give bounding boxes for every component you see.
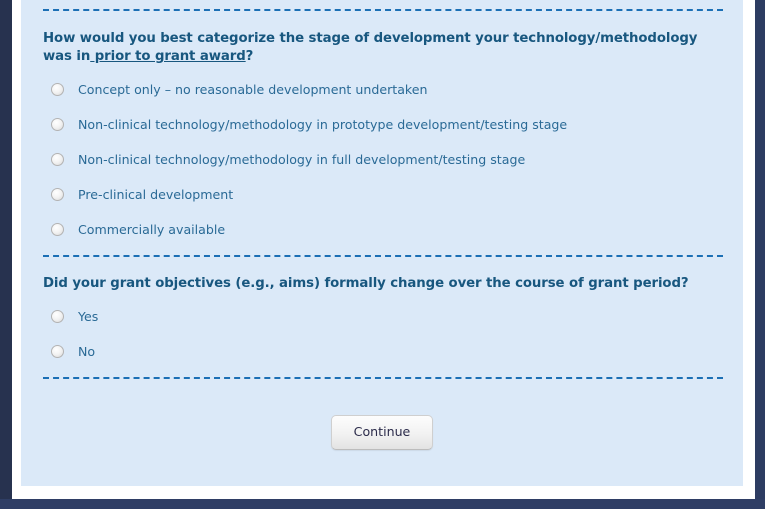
option-row[interactable]: Yes <box>43 299 727 334</box>
radio-objectives-no[interactable] <box>51 345 64 358</box>
option-row[interactable]: Non-clinical technology/methodology in f… <box>43 142 727 177</box>
question-block-stage-of-development: How would you best categorize the stage … <box>43 30 727 247</box>
continue-button[interactable]: Continue <box>331 415 434 450</box>
radio-full-development-stage[interactable] <box>51 153 64 166</box>
option-label[interactable]: Non-clinical technology/methodology in p… <box>78 117 567 133</box>
option-row[interactable]: Concept only – no reasonable development… <box>43 72 727 107</box>
radio-pre-clinical-development[interactable] <box>51 188 64 201</box>
survey-panel-inner: How would you best categorize the stage … <box>21 0 743 486</box>
separator-top <box>43 9 723 11</box>
radio-objectives-yes[interactable] <box>51 310 64 323</box>
option-label[interactable]: Commercially available <box>78 222 225 238</box>
options-list-objectives-change: Yes No <box>43 299 727 369</box>
option-row[interactable]: Pre-clinical development <box>43 177 727 212</box>
question-title-emphasis: prior to grant award <box>90 49 245 64</box>
question-title-suffix: ? <box>246 49 254 64</box>
question-title-objectives-change: Did your grant objectives (e.g., aims) f… <box>43 275 727 293</box>
option-label[interactable]: Non-clinical technology/methodology in f… <box>78 152 525 168</box>
survey-panel: How would you best categorize the stage … <box>21 0 743 486</box>
survey-page: How would you best categorize the stage … <box>0 0 765 509</box>
window-left-border <box>0 0 12 501</box>
option-label[interactable]: Concept only – no reasonable development… <box>78 82 428 98</box>
option-label[interactable]: Yes <box>78 309 98 325</box>
continue-button-container: Continue <box>21 415 743 450</box>
options-list-stage-of-development: Concept only – no reasonable development… <box>43 72 727 247</box>
question-block-objectives-change: Did your grant objectives (e.g., aims) f… <box>43 275 727 369</box>
option-label[interactable]: No <box>78 344 95 360</box>
radio-commercially-available[interactable] <box>51 223 64 236</box>
option-row[interactable]: No <box>43 334 727 369</box>
option-label[interactable]: Pre-clinical development <box>78 187 233 203</box>
question-title-text: Did your grant objectives (e.g., aims) f… <box>43 276 688 291</box>
separator-bottom <box>43 377 723 379</box>
separator-middle <box>43 255 723 257</box>
window-right-border <box>755 0 765 501</box>
window-bottom-border <box>0 499 765 509</box>
radio-concept-only[interactable] <box>51 83 64 96</box>
question-title-stage-of-development: How would you best categorize the stage … <box>43 30 727 66</box>
option-row[interactable]: Non-clinical technology/methodology in p… <box>43 107 727 142</box>
radio-prototype-stage[interactable] <box>51 118 64 131</box>
option-row[interactable]: Commercially available <box>43 212 727 247</box>
